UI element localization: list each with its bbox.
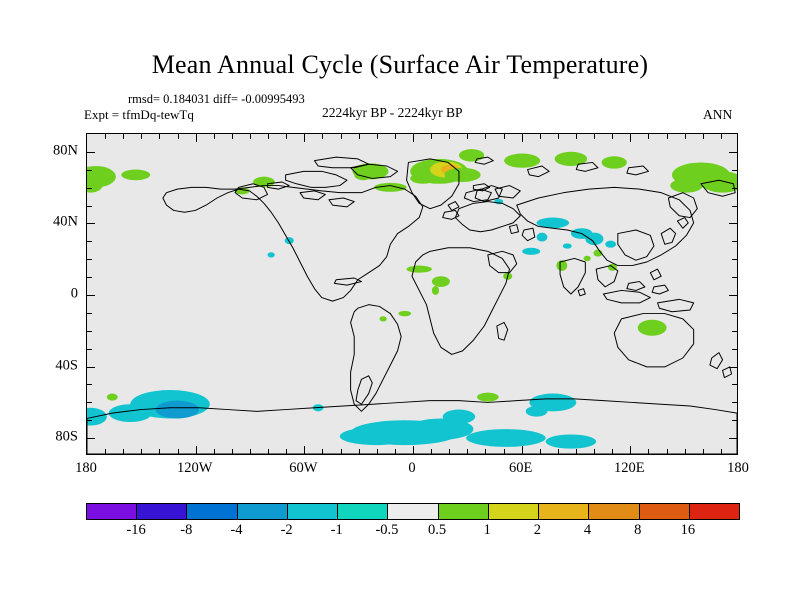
axis-tick-minor	[232, 449, 233, 454]
axis-tick-minor	[594, 134, 595, 139]
map-canvas	[87, 134, 737, 454]
axis-tick-minor	[449, 134, 450, 139]
axis-tick-minor	[467, 449, 468, 454]
colorbar-segment[interactable]	[438, 504, 488, 519]
experiment-label: Expt = tfmDq-tewTq	[84, 107, 194, 123]
axis-tick-minor	[377, 449, 378, 454]
axis-tick-major	[87, 152, 95, 153]
axis-tick-minor	[721, 134, 722, 139]
axis-tick-major	[729, 152, 737, 153]
axis-tick-minor	[467, 134, 468, 139]
axis-tick-minor	[648, 449, 649, 454]
axis-tick-minor	[540, 134, 541, 139]
colorbar-tick-label: 16	[681, 522, 696, 539]
axis-tick-minor	[87, 188, 92, 189]
colorbar-tick-label: 1	[484, 522, 491, 539]
axis-tick-minor	[732, 331, 737, 332]
axis-tick-minor	[449, 449, 450, 454]
colorbar-tick-label: 4	[584, 522, 591, 539]
axis-tick-major	[196, 134, 197, 142]
axis-tick-minor	[504, 449, 505, 454]
axis-tick-minor	[431, 134, 432, 139]
period-label: 2224kyr BP - 2224kyr BP	[322, 105, 463, 121]
axis-tick-minor	[540, 449, 541, 454]
axis-tick-minor	[485, 134, 486, 139]
axis-tick-minor	[395, 134, 396, 139]
axis-tick-minor	[576, 134, 577, 139]
axis-tick-minor	[87, 206, 92, 207]
y-axis-label: 0	[0, 286, 78, 303]
y-axis-label: 40N	[0, 214, 78, 231]
axis-tick-minor	[286, 449, 287, 454]
colorbar-tick-label: 0.5	[428, 522, 446, 539]
axis-tick-minor	[341, 449, 342, 454]
axis-tick-major	[413, 134, 414, 142]
axis-tick-minor	[87, 384, 92, 385]
axis-tick-minor	[732, 313, 737, 314]
colorbar-tick-label: -8	[180, 522, 192, 539]
axis-tick-minor	[377, 134, 378, 139]
axis-tick-major	[729, 367, 737, 368]
axis-tick-minor	[732, 349, 737, 350]
axis-tick-minor	[612, 134, 613, 139]
axis-tick-minor	[178, 134, 179, 139]
axis-tick-major	[630, 446, 631, 454]
axis-tick-major	[304, 134, 305, 142]
world-map-plot	[86, 133, 738, 455]
axis-tick-minor	[87, 349, 92, 350]
axis-tick-minor	[667, 449, 668, 454]
axis-tick-minor	[576, 449, 577, 454]
axis-tick-minor	[214, 449, 215, 454]
axis-tick-minor	[732, 277, 737, 278]
colorbar-segment[interactable]	[689, 504, 739, 519]
axis-tick-minor	[105, 134, 106, 139]
axis-tick-major	[522, 134, 523, 142]
x-axis-label: 0	[408, 460, 415, 477]
axis-tick-minor	[732, 259, 737, 260]
colorbar-segment[interactable]	[588, 504, 638, 519]
axis-tick-minor	[341, 134, 342, 139]
axis-tick-major	[87, 367, 95, 368]
axis-tick-minor	[141, 449, 142, 454]
axis-tick-minor	[732, 241, 737, 242]
colorbar-tick-label: -1	[331, 522, 343, 539]
colorbar-segment[interactable]	[287, 504, 337, 519]
axis-tick-major	[304, 446, 305, 454]
axis-tick-minor	[105, 449, 106, 454]
axis-tick-minor	[214, 134, 215, 139]
axis-tick-minor	[87, 259, 92, 260]
axis-tick-minor	[648, 134, 649, 139]
colorbar-tick-label: -0.5	[375, 522, 398, 539]
axis-tick-minor	[141, 134, 142, 139]
x-axis-label: 180	[75, 460, 97, 477]
colorbar-tick-label: 8	[634, 522, 641, 539]
axis-tick-minor	[250, 134, 251, 139]
colorbar-segment[interactable]	[237, 504, 287, 519]
colorbar-tick-label: -4	[230, 522, 242, 539]
axis-tick-minor	[667, 134, 668, 139]
axis-tick-minor	[87, 241, 92, 242]
statistics-text: rmsd= 0.184031 diff= -0.00995493	[128, 92, 305, 107]
axis-tick-major	[630, 134, 631, 142]
season-label: ANN	[703, 107, 732, 123]
axis-tick-minor	[558, 134, 559, 139]
axis-tick-major	[87, 223, 95, 224]
colorbar[interactable]	[86, 503, 740, 520]
axis-tick-major	[522, 446, 523, 454]
x-axis-label: 60W	[289, 460, 317, 477]
x-axis-label: 60E	[509, 460, 532, 477]
page-title: Mean Annual Cycle (Surface Air Temperatu…	[0, 50, 800, 80]
axis-tick-minor	[159, 449, 160, 454]
axis-tick-minor	[612, 449, 613, 454]
axis-tick-minor	[485, 449, 486, 454]
axis-tick-minor	[732, 206, 737, 207]
axis-tick-minor	[504, 134, 505, 139]
x-axis-label: 120W	[177, 460, 212, 477]
axis-tick-major	[413, 446, 414, 454]
axis-tick-minor	[322, 134, 323, 139]
y-axis-label: 80N	[0, 142, 78, 159]
axis-tick-minor	[87, 313, 92, 314]
colorbar-segment[interactable]	[538, 504, 588, 519]
x-axis-label: 180	[727, 460, 749, 477]
colorbar-segment[interactable]	[136, 504, 186, 519]
axis-tick-minor	[123, 449, 124, 454]
axis-tick-minor	[703, 449, 704, 454]
colorbar-segment[interactable]	[387, 504, 437, 519]
axis-tick-minor	[232, 134, 233, 139]
axis-tick-minor	[87, 331, 92, 332]
axis-tick-minor	[594, 449, 595, 454]
colorbar-segment[interactable]	[639, 504, 689, 519]
y-axis-label: 40S	[0, 357, 78, 374]
axis-tick-minor	[732, 402, 737, 403]
axis-tick-minor	[732, 170, 737, 171]
axis-tick-major	[729, 295, 737, 296]
axis-tick-minor	[685, 449, 686, 454]
axis-tick-minor	[732, 420, 737, 421]
axis-tick-minor	[685, 134, 686, 139]
axis-tick-minor	[558, 449, 559, 454]
colorbar-segment[interactable]	[186, 504, 236, 519]
axis-tick-major	[87, 295, 95, 296]
x-axis-label: 120E	[614, 460, 645, 477]
climate-figure: Mean Annual Cycle (Surface Air Temperatu…	[0, 0, 800, 600]
axis-tick-minor	[322, 449, 323, 454]
axis-tick-major	[196, 446, 197, 454]
colorbar-segment[interactable]	[488, 504, 538, 519]
axis-tick-minor	[87, 170, 92, 171]
colorbar-segment[interactable]	[337, 504, 387, 519]
axis-tick-minor	[395, 449, 396, 454]
colorbar-tick-label: -16	[126, 522, 145, 539]
axis-tick-minor	[721, 449, 722, 454]
axis-tick-minor	[703, 134, 704, 139]
axis-tick-minor	[732, 188, 737, 189]
axis-tick-minor	[250, 449, 251, 454]
axis-tick-minor	[178, 449, 179, 454]
colorbar-tick-label: -2	[281, 522, 293, 539]
axis-tick-minor	[732, 384, 737, 385]
axis-tick-major	[729, 223, 737, 224]
axis-tick-minor	[268, 134, 269, 139]
y-axis-label: 80S	[0, 429, 78, 446]
axis-tick-major	[87, 438, 95, 439]
colorbar-tick-label: 2	[534, 522, 541, 539]
axis-tick-minor	[359, 134, 360, 139]
axis-tick-minor	[431, 449, 432, 454]
axis-tick-minor	[359, 449, 360, 454]
axis-tick-minor	[123, 134, 124, 139]
colorbar-segment[interactable]	[87, 504, 136, 519]
axis-tick-minor	[268, 449, 269, 454]
axis-tick-minor	[87, 277, 92, 278]
axis-tick-minor	[87, 402, 92, 403]
axis-tick-minor	[159, 134, 160, 139]
axis-tick-major	[729, 438, 737, 439]
axis-tick-minor	[87, 420, 92, 421]
axis-tick-minor	[286, 134, 287, 139]
